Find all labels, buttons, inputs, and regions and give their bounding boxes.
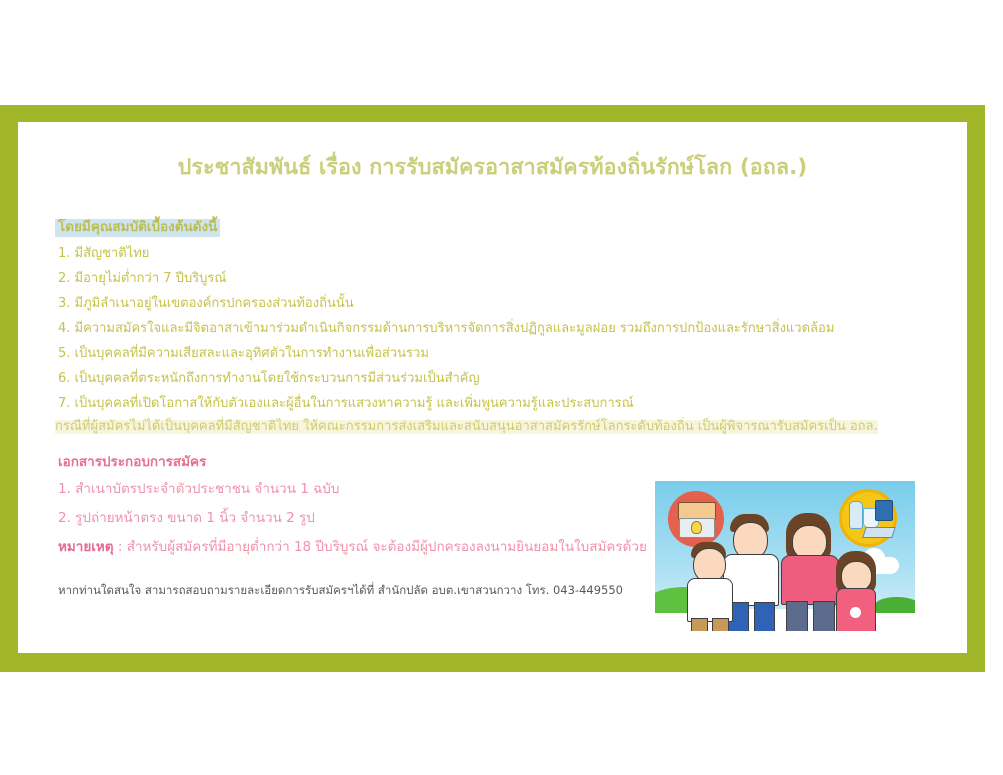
qualification-item-1: 1. มีสัญชาติไทย (58, 247, 149, 261)
documents-note: หมายเหตุ : สำหรับผู้สมัครที่มีอายุต่ำกว่… (58, 540, 647, 555)
contact-line: หากท่านใดสนใจ สามารถสอบถามรายละเอียดการร… (58, 584, 623, 597)
girl-figure (827, 547, 885, 631)
qualification-item-6: 6. เป็นบุคคลที่ตระหนักถึงการทำงานโดยใช้ก… (58, 372, 480, 386)
documents-note-text: : สำหรับผู้สมัครที่มีอายุต่ำกว่า 18 ปีบร… (114, 539, 647, 555)
qualification-item-5: 5. เป็นบุคคลที่มีความเสียสละและอุทิศตัวใ… (58, 347, 429, 361)
qualifications-heading: โดยมีคุณสมบัติเบื้องต้นดังนี้ (55, 219, 220, 237)
qualification-item-7: 7. เป็นบุคคลที่เปิดโอกาสให้กับตัวเองและผ… (58, 397, 634, 411)
documents-note-label: หมายเหตุ (58, 539, 114, 555)
qualifications-exception-note: กรณีที่ผู้สมัครไม่ได้เป็นบุคคลที่มีสัญชา… (55, 420, 878, 434)
lightbulb-icon (691, 521, 702, 534)
qualification-item-3: 3. มีภูมิลำเนาอยู่ในเขตองค์กรปกครองส่วนท… (58, 297, 354, 311)
boy-leg-right (712, 618, 729, 631)
qualification-item-2: 2. มีอายุไม่ต่ำกว่า 7 ปีบริบูรณ์ (58, 272, 226, 286)
boy-shirt (687, 578, 733, 622)
boy-leg-left (691, 618, 708, 631)
poster-green-frame: ประชาสัมพันธ์ เรื่อง การรับสมัครอาสาสมัค… (0, 105, 985, 672)
milk-carton-icon (875, 500, 893, 521)
mother-leg-left (786, 601, 808, 631)
qualification-item-4: 4. มีความสมัครใจและมีจิตอาสาเข้ามาร่วมดำ… (58, 322, 834, 336)
document-item-1: 1. สำเนาบัตรประจำตัวประชาชน จำนวน 1 ฉบับ (58, 482, 339, 497)
girl-dress-badge (850, 607, 861, 618)
recyclables-bubble-icon (839, 489, 897, 547)
family-recycling-illustration (655, 481, 915, 631)
poster-white-sheet: ประชาสัมพันธ์ เรื่อง การรับสมัครอาสาสมัค… (18, 122, 967, 653)
paper-stack-icon (862, 527, 896, 538)
boy-figure (679, 538, 741, 631)
document-item-2: 2. รูปถ่ายหน้าตรง ขนาด 1 นิ้ว จำนวน 2 รู… (58, 511, 315, 526)
plastic-bottle-icon (849, 501, 863, 529)
father-leg-right (754, 602, 775, 631)
documents-heading: เอกสารประกอบการสมัคร (55, 454, 209, 472)
page-title: ประชาสัมพันธ์ เรื่อง การรับสมัครอาสาสมัค… (18, 156, 967, 180)
